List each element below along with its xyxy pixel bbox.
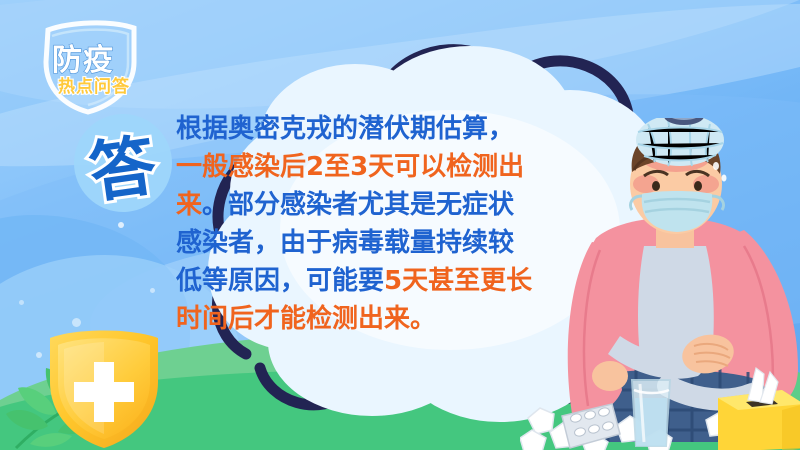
bubble-dot — [118, 222, 124, 228]
answer-segment: 感染者，由于病毒载量持续较 — [176, 228, 514, 258]
answer-line: 来。部分感染者尤其是无症状 — [176, 186, 576, 224]
answer-badge-label: 答 — [83, 112, 162, 216]
water-glass-icon — [632, 380, 670, 446]
brand-logo: 防疫 热点问答 — [18, 16, 168, 116]
bedside-objects — [520, 360, 800, 450]
answer-line: 时间后才能检测出来。 — [176, 300, 576, 338]
answer-text-block: 根据奥密克戎的潜伏期估算， 一般感染后2至3天可以检测出 来。部分感染者尤其是无… — [176, 110, 576, 338]
answer-segment: 来 — [176, 190, 202, 220]
tissue-box-icon — [718, 368, 800, 450]
pill-blister-pack-icon — [562, 404, 620, 448]
answer-line: 感染者，由于病毒载量持续较 — [176, 224, 576, 262]
answer-segment: 低等原因，可能要 — [176, 266, 384, 296]
answer-segment: 5天甚至更长 — [384, 266, 532, 296]
answer-segment: 时间后才能检测出来。 — [176, 304, 436, 334]
answer-segment: 根据奥密克戎的潜伏期估算， — [176, 114, 514, 144]
answer-line: 根据奥密克戎的潜伏期估算， — [176, 110, 576, 148]
answer-line: 一般感染后2至3天可以检测出 — [176, 148, 576, 186]
answer-badge-icon: 答 — [55, 100, 189, 228]
crumpled-tissues — [520, 408, 732, 450]
bubble-dot — [19, 300, 24, 305]
logo-title: 防疫 — [52, 43, 114, 78]
answer-segment: 。部分感染者尤其是无症状 — [202, 190, 514, 220]
answer-line: 低等原因，可能要5天甚至更长 — [176, 262, 576, 300]
logo-subtitle: 热点问答 — [58, 76, 130, 97]
answer-segment: 一般感染后2至3天可以检测出 — [176, 152, 524, 182]
medical-shield-icon — [38, 322, 170, 450]
answer-badge: 答 — [62, 108, 182, 220]
poster-canvas: 防疫 热点问答 答 根据奥密克戎的潜伏期估算， 一般感染后2至3天可以检测出 来… — [0, 0, 800, 450]
